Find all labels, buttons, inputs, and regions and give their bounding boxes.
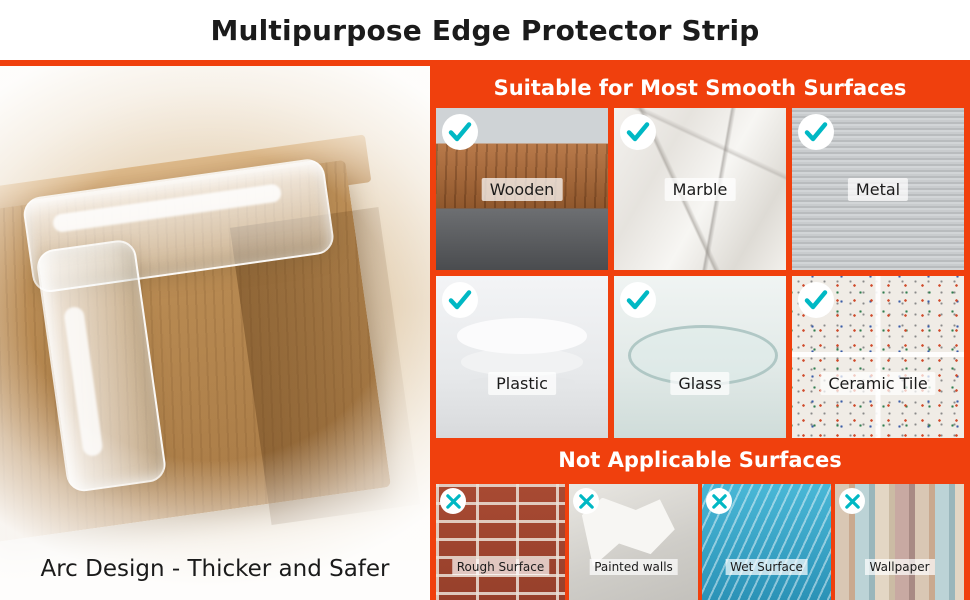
surface-card-ceramic-tile: Ceramic Tile bbox=[792, 276, 964, 438]
check-icon bbox=[620, 282, 656, 318]
surface-label: Ceramic Tile bbox=[820, 372, 935, 395]
unsuitable-card-painted-walls: Painted walls bbox=[569, 484, 698, 600]
suitable-heading: Suitable for Most Smooth Surfaces bbox=[430, 70, 970, 106]
surface-label: Glass bbox=[670, 372, 729, 395]
check-icon bbox=[620, 114, 656, 150]
check-icon bbox=[442, 282, 478, 318]
surfaces-panel: Suitable for Most Smooth Surfaces Wooden… bbox=[430, 60, 970, 600]
page-title: Multipurpose Edge Protector Strip bbox=[210, 14, 759, 47]
hero-caption: Arc Design - Thicker and Safer bbox=[0, 556, 430, 582]
product-infographic: Multipurpose Edge Protector Strip Arc De… bbox=[0, 0, 970, 600]
not-applicable-heading: Not Applicable Surfaces bbox=[430, 442, 970, 478]
not-applicable-grid: Rough Surface Painted walls Wet Surface bbox=[436, 484, 964, 600]
surface-label: Marble bbox=[665, 178, 736, 201]
x-icon bbox=[440, 488, 466, 514]
x-icon bbox=[839, 488, 865, 514]
check-icon bbox=[798, 114, 834, 150]
hero-product-photo: Arc Design - Thicker and Safer bbox=[0, 66, 430, 600]
unsuitable-card-wallpaper: Wallpaper bbox=[835, 484, 964, 600]
surface-card-glass: Glass bbox=[614, 276, 786, 438]
title-bar: Multipurpose Edge Protector Strip bbox=[0, 0, 970, 60]
surface-label: Plastic bbox=[488, 372, 556, 395]
x-icon bbox=[573, 488, 599, 514]
surface-label: Wooden bbox=[482, 178, 563, 201]
surface-card-wooden: Wooden bbox=[436, 108, 608, 270]
suitable-grid: Wooden Marble Metal bbox=[436, 108, 964, 438]
x-icon bbox=[706, 488, 732, 514]
unsuitable-card-rough-surface: Rough Surface bbox=[436, 484, 565, 600]
surface-card-marble: Marble bbox=[614, 108, 786, 270]
surface-label: Painted walls bbox=[589, 559, 678, 575]
surface-card-plastic: Plastic bbox=[436, 276, 608, 438]
surface-card-metal: Metal bbox=[792, 108, 964, 270]
check-icon bbox=[798, 282, 834, 318]
hero-vignette bbox=[0, 66, 430, 600]
surface-label: Rough Surface bbox=[452, 559, 550, 575]
surface-label: Metal bbox=[848, 178, 908, 201]
unsuitable-card-wet-surface: Wet Surface bbox=[702, 484, 831, 600]
surface-label: Wet Surface bbox=[725, 559, 808, 575]
check-icon bbox=[442, 114, 478, 150]
surface-label: Wallpaper bbox=[864, 559, 934, 575]
